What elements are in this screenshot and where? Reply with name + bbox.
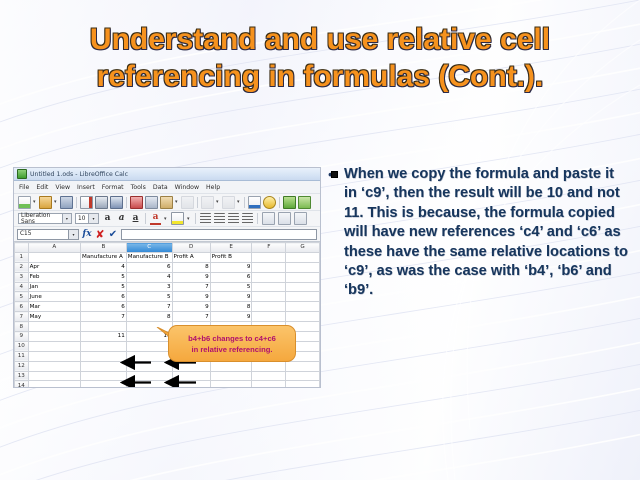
row-header-14[interactable]: 14: [15, 381, 29, 388]
underline-button[interactable]: a: [130, 213, 141, 224]
new-document-icon[interactable]: [18, 196, 31, 209]
cell-D14[interactable]: [172, 381, 210, 388]
calc-title-bar: Untitled 1.ods - LibreOffice Calc: [14, 168, 320, 181]
table-row[interactable]: 6Mar6798: [15, 302, 320, 312]
cell-E7[interactable]: 9: [210, 312, 252, 322]
align-justified-icon[interactable]: [242, 213, 253, 224]
cell-C1[interactable]: Manufacture B: [126, 252, 172, 262]
align-left-icon[interactable]: [200, 213, 211, 224]
table-row[interactable]: 5June6599: [15, 292, 320, 302]
cell-D3[interactable]: 9: [172, 272, 210, 282]
cell-F2[interactable]: [252, 262, 286, 272]
cell-C5[interactable]: 5: [126, 292, 172, 302]
insert-chart-icon[interactable]: [298, 196, 311, 209]
cell-G12[interactable]: [286, 361, 320, 371]
table-row[interactable]: 14: [15, 381, 320, 388]
cell-E6[interactable]: 8: [210, 302, 252, 312]
cell-B12[interactable]: [81, 361, 127, 371]
column-header-d[interactable]: D: [172, 243, 210, 253]
cell-G13[interactable]: [286, 371, 320, 381]
cell-A5[interactable]: June: [28, 292, 80, 302]
open-dropdown-icon[interactable]: ▾: [54, 199, 58, 205]
calc-document-icon: [17, 169, 27, 179]
save-icon[interactable]: [60, 196, 73, 209]
column-header-g[interactable]: G: [286, 243, 320, 253]
name-box[interactable]: C15 ▾: [17, 229, 79, 240]
cell-B7[interactable]: 7: [81, 312, 127, 322]
toolbar-separator: [76, 197, 77, 208]
font-color-icon[interactable]: a: [150, 212, 161, 225]
select-all-corner[interactable]: [15, 243, 29, 253]
column-header-a[interactable]: A: [28, 243, 80, 253]
row-header-9[interactable]: 9: [15, 332, 29, 342]
row-header-6[interactable]: 6: [15, 302, 29, 312]
cell-D1[interactable]: Profit A: [172, 252, 210, 262]
cell-E2[interactable]: 9: [210, 262, 252, 272]
cell-B13[interactable]: [81, 371, 127, 381]
cell-F5[interactable]: [252, 292, 286, 302]
cell-G6[interactable]: [286, 302, 320, 312]
table-row[interactable]: 4Jan5375: [15, 282, 320, 292]
highlight-color-icon[interactable]: [171, 212, 184, 225]
cell-B8[interactable]: [81, 322, 127, 332]
cell-D7[interactable]: 7: [172, 312, 210, 322]
cell-A9[interactable]: [28, 332, 80, 342]
print-preview-icon[interactable]: [110, 196, 123, 209]
row-header-8[interactable]: 8: [15, 322, 29, 332]
cell-C2[interactable]: 6: [126, 262, 172, 272]
row-header-7[interactable]: 7: [15, 312, 29, 322]
cell-A12[interactable]: [28, 361, 80, 371]
cell-A13[interactable]: [28, 371, 80, 381]
menu-file[interactable]: File: [19, 184, 29, 191]
cell-C11[interactable]: [126, 351, 172, 361]
image-selection-handle[interactable]: [331, 171, 338, 178]
cell-C3[interactable]: 4: [126, 272, 172, 282]
calc-window-title: Untitled 1.ods - LibreOffice Calc: [30, 171, 128, 178]
highlight-dropdown-icon[interactable]: ▾: [187, 216, 191, 222]
chevron-down-icon[interactable]: ▾: [88, 214, 98, 223]
copy-icon[interactable]: [145, 196, 158, 209]
cell-F12[interactable]: [252, 361, 286, 371]
row-header-11[interactable]: 11: [15, 351, 29, 361]
cell-B14[interactable]: [81, 381, 127, 388]
find-replace-icon[interactable]: [263, 196, 276, 209]
cell-A7[interactable]: May: [28, 312, 80, 322]
cell-G3[interactable]: [286, 272, 320, 282]
column-header-b[interactable]: B: [81, 243, 127, 253]
cut-scissors-icon[interactable]: [130, 196, 143, 209]
calc-formatting-toolbar[interactable]: Liberation Sans ▾ 10 ▾ a a a a ▾ ▾: [14, 211, 320, 227]
cell-B9[interactable]: 11: [81, 332, 127, 342]
row-header-5[interactable]: 5: [15, 292, 29, 302]
bullet-list: • When we copy the formula and paste it …: [328, 165, 628, 301]
align-top-icon[interactable]: [278, 212, 291, 225]
toolbar-separator: [244, 197, 245, 208]
align-center-vertical-icon[interactable]: [294, 212, 307, 225]
calc-menu-bar[interactable]: File Edit View Insert Format Tools Data …: [14, 181, 320, 194]
undo-icon: [201, 196, 214, 209]
merge-cells-icon[interactable]: [262, 212, 275, 225]
menu-data[interactable]: Data: [153, 184, 168, 191]
cell-A6[interactable]: Mar: [28, 302, 80, 312]
cell-B4[interactable]: 5: [81, 282, 127, 292]
table-row[interactable]: 1Manufacture AManufacture BProfit AProfi…: [15, 252, 320, 262]
redo-dropdown-icon: ▾: [237, 199, 241, 205]
cell-A3[interactable]: Feb: [28, 272, 80, 282]
sheet-body[interactable]: 1Manufacture AManufacture BProfit AProfi…: [15, 252, 320, 388]
print-icon[interactable]: [95, 196, 108, 209]
cell-G7[interactable]: [286, 312, 320, 322]
bold-button[interactable]: a: [102, 213, 113, 224]
insert-table-icon[interactable]: [283, 196, 296, 209]
row-header-2[interactable]: 2: [15, 262, 29, 272]
cell-B10[interactable]: [81, 341, 127, 351]
toolbar-separator: [197, 197, 198, 208]
open-folder-icon[interactable]: [39, 196, 52, 209]
cell-F6[interactable]: [252, 302, 286, 312]
toolbar-separator: [195, 213, 196, 224]
cell-G14[interactable]: [286, 381, 320, 388]
column-header-f[interactable]: F: [252, 243, 286, 253]
menu-insert[interactable]: Insert: [77, 184, 95, 191]
cell-F3[interactable]: [252, 272, 286, 282]
calc-formula-bar[interactable]: C15 ▾ fx ✘ ✔: [14, 227, 320, 242]
cell-A1[interactable]: [28, 252, 80, 262]
font-name-value: Liberation Sans: [21, 213, 62, 225]
spreadsheet-grid[interactable]: A B C D E F G 1Manufacture AManufacture …: [14, 242, 320, 388]
cell-F14[interactable]: [252, 381, 286, 388]
table-row[interactable]: 12: [15, 361, 320, 371]
align-right-icon[interactable]: [228, 213, 239, 224]
paste-dropdown-icon[interactable]: ▾: [175, 199, 179, 205]
redo-icon: [222, 196, 235, 209]
font-size-field[interactable]: 10 ▾: [75, 213, 99, 224]
column-header-c[interactable]: C: [126, 243, 172, 253]
align-center-icon[interactable]: [214, 213, 225, 224]
column-header-e[interactable]: E: [210, 243, 252, 253]
bullet-body-text: When we copy the formula and paste it in…: [344, 165, 628, 301]
cell-F4[interactable]: [252, 282, 286, 292]
row-header-13[interactable]: 13: [15, 371, 29, 381]
cell-E14[interactable]: [210, 381, 252, 388]
cell-A14[interactable]: [28, 381, 80, 388]
column-header-row: A B C D E F G: [15, 243, 320, 253]
table-row[interactable]: 2Apr4689: [15, 262, 320, 272]
cell-D13[interactable]: [172, 371, 210, 381]
paste-icon[interactable]: [160, 196, 173, 209]
calc-standard-toolbar[interactable]: ▾ ▾ ▾ ▾ ▾: [14, 194, 320, 211]
cell-G4[interactable]: [286, 282, 320, 292]
chevron-down-icon[interactable]: ▾: [68, 230, 78, 239]
cell-A11[interactable]: [28, 351, 80, 361]
menu-help[interactable]: Help: [206, 184, 220, 191]
menu-edit[interactable]: Edit: [36, 184, 48, 191]
toolbar-separator: [126, 197, 127, 208]
cell-B2[interactable]: 4: [81, 262, 127, 272]
menu-tools[interactable]: Tools: [131, 184, 146, 191]
italic-button[interactable]: a: [116, 213, 127, 224]
cell-E5[interactable]: 9: [210, 292, 252, 302]
slide-canvas: Understand and use relative cell referen…: [0, 0, 640, 480]
cell-B5[interactable]: 6: [81, 292, 127, 302]
cell-E12[interactable]: [210, 361, 252, 371]
menu-window[interactable]: Window: [175, 184, 199, 191]
table-row[interactable]: 3Feb5496: [15, 272, 320, 282]
cell-B11[interactable]: [81, 351, 127, 361]
row-header-4[interactable]: 4: [15, 282, 29, 292]
clone-formatting-icon: [181, 196, 194, 209]
table-row[interactable]: 13: [15, 371, 320, 381]
menu-view[interactable]: View: [55, 184, 70, 191]
new-document-dropdown-icon[interactable]: ▾: [33, 199, 37, 205]
toolbar-separator: [257, 213, 258, 224]
table-row[interactable]: 7May7879: [15, 312, 320, 322]
cell-F7[interactable]: [252, 312, 286, 322]
cell-A8[interactable]: [28, 322, 80, 332]
cell-F13[interactable]: [252, 371, 286, 381]
cell-B1[interactable]: Manufacture A: [81, 252, 127, 262]
cell-C6[interactable]: 7: [126, 302, 172, 312]
cell-D5[interactable]: 9: [172, 292, 210, 302]
cell-A10[interactable]: [28, 341, 80, 351]
callout-line-2: in relative referencing.: [191, 344, 272, 355]
formula-input-line[interactable]: [121, 229, 317, 240]
cell-A4[interactable]: Jan: [28, 282, 80, 292]
accept-check-icon[interactable]: ✔: [108, 229, 118, 240]
undo-dropdown-icon: ▾: [216, 199, 220, 205]
function-wizard-icon[interactable]: fx: [82, 229, 92, 239]
toolbar-separator: [145, 213, 146, 224]
menu-format[interactable]: Format: [102, 184, 124, 191]
export-pdf-icon[interactable]: [80, 196, 93, 209]
toolbar-separator: [279, 197, 280, 208]
list-item: • When we copy the formula and paste it …: [328, 165, 628, 301]
cell-G1[interactable]: [286, 252, 320, 262]
cell-C12[interactable]: [126, 361, 172, 371]
cell-F1[interactable]: [252, 252, 286, 262]
cell-A2[interactable]: Apr: [28, 262, 80, 272]
cell-C7[interactable]: 8: [126, 312, 172, 322]
cell-E3[interactable]: 6: [210, 272, 252, 282]
cell-B3[interactable]: 5: [81, 272, 127, 282]
font-name-field[interactable]: Liberation Sans ▾: [18, 213, 72, 224]
cell-D2[interactable]: 8: [172, 262, 210, 272]
name-box-value: C15: [20, 231, 31, 237]
callout-line-1: b4+b6 changes to c4+c6: [188, 333, 276, 344]
cell-E1[interactable]: Profit B: [210, 252, 252, 262]
chevron-down-icon[interactable]: ▾: [62, 214, 71, 223]
callout-box: b4+b6 changes to c4+c6 in relative refer…: [168, 325, 296, 362]
row-header-10[interactable]: 10: [15, 341, 29, 351]
cell-G5[interactable]: [286, 292, 320, 302]
cell-E4[interactable]: 5: [210, 282, 252, 292]
cell-B6[interactable]: 6: [81, 302, 127, 312]
spelling-abc-icon[interactable]: [248, 196, 261, 209]
sheet-table[interactable]: A B C D E F G 1Manufacture AManufacture …: [14, 242, 320, 388]
cell-C14[interactable]: [126, 381, 172, 388]
font-color-dropdown-icon[interactable]: ▾: [164, 216, 168, 222]
font-size-value: 10: [78, 216, 85, 222]
cell-C4[interactable]: 3: [126, 282, 172, 292]
cell-C13[interactable]: [126, 371, 172, 381]
cell-D6[interactable]: 9: [172, 302, 210, 312]
cell-G2[interactable]: [286, 262, 320, 272]
row-header-12[interactable]: 12: [15, 361, 29, 371]
cell-D4[interactable]: 7: [172, 282, 210, 292]
cell-D12[interactable]: [172, 361, 210, 371]
row-header-3[interactable]: 3: [15, 272, 29, 282]
cell-E13[interactable]: [210, 371, 252, 381]
cancel-x-icon[interactable]: ✘: [95, 229, 105, 240]
row-header-1[interactable]: 1: [15, 252, 29, 262]
page-title: Understand and use relative cell referen…: [30, 22, 610, 95]
